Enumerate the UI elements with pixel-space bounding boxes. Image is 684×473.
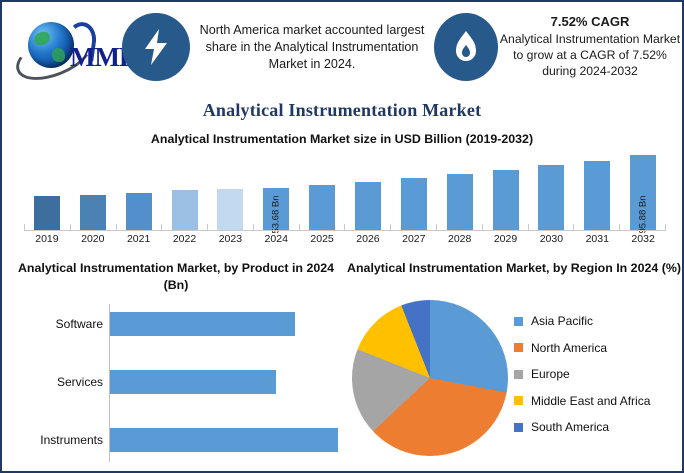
- product-bar: [110, 370, 276, 394]
- x-axis-label: 2021: [116, 233, 162, 245]
- x-axis-label: 2031: [574, 233, 620, 245]
- product-bar-label: Services: [7, 370, 110, 394]
- x-axis-label: 2027: [391, 233, 437, 245]
- x-axis-label: 2029: [483, 233, 529, 245]
- page-title: Analytical Instrumentation Market: [2, 100, 682, 121]
- bar-cell: [574, 150, 620, 230]
- flame-badge: [434, 13, 498, 81]
- bar: [538, 165, 564, 230]
- bar-cell: [116, 150, 162, 230]
- product-bar: [110, 428, 338, 452]
- x-axis-label: 2019: [24, 233, 70, 245]
- region-pie-chart: [352, 300, 508, 456]
- bar-cell: [528, 150, 574, 230]
- x-axis-label: 2032: [620, 233, 666, 245]
- legend-item: Middle East and Africa: [514, 388, 682, 415]
- bar-cell: [345, 150, 391, 230]
- header: MMR North America market accounted large…: [2, 2, 682, 94]
- product-chart-panel: Analytical Instrumentation Market, by Pr…: [6, 260, 346, 468]
- bar-cell: [162, 150, 208, 230]
- bar-cell: 95.88 Bn: [620, 150, 666, 230]
- bar: [447, 174, 473, 230]
- legend-item: North America: [514, 335, 682, 362]
- region-chart-panel: Analytical Instrumentation Market, by Re…: [346, 260, 682, 468]
- bar-cell: [70, 150, 116, 230]
- legend-swatch: [514, 423, 523, 432]
- cagr-description: Analytical Instrumentation Market to gro…: [500, 32, 680, 78]
- product-bar-label: Instruments: [7, 428, 110, 452]
- legend-label: Asia Pacific: [531, 314, 593, 328]
- market-size-x-labels: 2019202020212022202320242025202620272028…: [24, 233, 666, 245]
- lightning-bolt-badge: [122, 13, 190, 81]
- region-chart-title: Analytical Instrumentation Market, by Re…: [346, 260, 682, 277]
- x-axis-label: 2030: [528, 233, 574, 245]
- bar: [401, 178, 427, 230]
- mmr-logo: MMR: [10, 16, 138, 80]
- legend-swatch: [514, 317, 523, 326]
- x-axis-label: 2023: [207, 233, 253, 245]
- market-size-chart-title: Analytical Instrumentation Market size i…: [2, 132, 682, 146]
- product-bar-row: Services: [110, 370, 276, 394]
- x-axis-label: 2022: [162, 233, 208, 245]
- bar-cell: [299, 150, 345, 230]
- legend-swatch: [514, 370, 523, 379]
- market-size-bar-chart: 53.68 Bn95.88 Bn: [24, 150, 666, 230]
- legend-label: Middle East and Africa: [531, 394, 650, 408]
- legend-label: Europe: [531, 367, 570, 381]
- bar-cell: [437, 150, 483, 230]
- flame-icon: [453, 30, 479, 64]
- legend-label: South America: [531, 420, 609, 434]
- header-right-text: 7.52% CAGR Analytical Instrumentation Ma…: [498, 14, 682, 79]
- legend-item: Asia Pacific: [514, 308, 682, 335]
- region-legend: Asia PacificNorth AmericaEuropeMiddle Ea…: [514, 308, 682, 441]
- lightning-bolt-icon: [141, 28, 171, 66]
- legend-swatch: [514, 343, 523, 352]
- bar: [584, 161, 610, 230]
- product-chart-title: Analytical Instrumentation Market, by Pr…: [6, 260, 346, 294]
- bar-cell: [391, 150, 437, 230]
- bar-cell: [483, 150, 529, 230]
- market-size-axis-line: [24, 230, 666, 231]
- product-bar-row: Software: [110, 312, 295, 336]
- legend-item: Europe: [514, 361, 682, 388]
- header-left-text: North America market accounted largest s…: [192, 22, 432, 73]
- cagr-value: 7.52% CAGR: [498, 14, 682, 30]
- product-bar-label: Software: [7, 312, 110, 336]
- product-bar-row: Instruments: [110, 428, 338, 452]
- bar-cell: [207, 150, 253, 230]
- x-axis-label: 2025: [299, 233, 345, 245]
- x-axis-label: 2028: [437, 233, 483, 245]
- legend-item: South America: [514, 414, 682, 441]
- bar: 95.88 Bn: [630, 155, 656, 230]
- infographic-page: MMR North America market accounted large…: [0, 0, 684, 473]
- bar-cell: [24, 150, 70, 230]
- bar: [355, 182, 381, 230]
- product-bar-chart: SoftwareServicesInstruments: [109, 304, 340, 462]
- legend-label: North America: [531, 341, 607, 355]
- x-axis-label: 2026: [345, 233, 391, 245]
- x-axis-label: 2020: [70, 233, 116, 245]
- legend-swatch: [514, 396, 523, 405]
- x-axis-label: 2024: [253, 233, 299, 245]
- product-bar: [110, 312, 295, 336]
- bar-cell: 53.68 Bn: [253, 150, 299, 230]
- bar: [493, 170, 519, 230]
